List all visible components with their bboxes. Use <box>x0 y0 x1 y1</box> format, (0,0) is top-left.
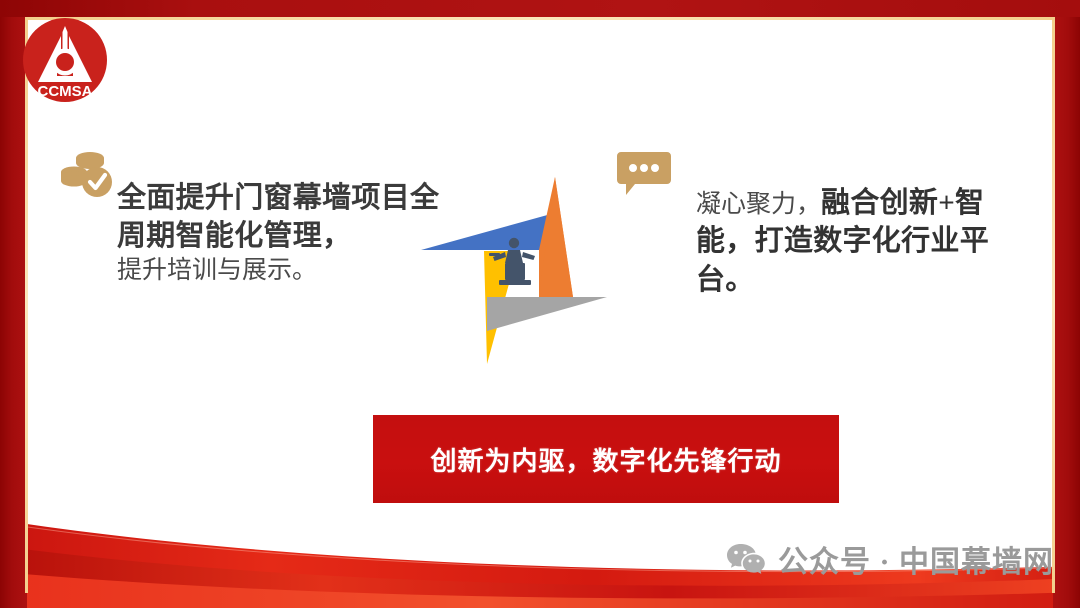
right-message-text: 凝心聚力，融合创新+智能，打造数字化行业平台。 <box>696 184 1026 299</box>
coins-check-icon <box>60 148 120 202</box>
left-message-text: 全面提升门窗幕墙项目全周期智能化管理， 提升培训与展示。 <box>117 180 447 288</box>
speech-bubble-icon <box>616 150 672 200</box>
pinwheel-podium-emblem <box>417 164 637 374</box>
left-subline: 提升培训与展示。 <box>117 257 317 284</box>
highlight-banner: 创新为内驱，数字化先锋行动 <box>373 415 839 503</box>
left-headline: 全面提升门窗幕墙项目全周期智能化管理， <box>117 182 439 252</box>
frame-border-top <box>0 0 1080 17</box>
wechat-icon <box>726 542 766 576</box>
footer-watermark: 公众号 · 中国幕墙网 <box>726 537 1054 581</box>
ccmsa-logo-text: CCMSA <box>38 83 93 100</box>
slide-root: CCMSA <box>0 0 1080 608</box>
frame-accent-top <box>25 17 1055 20</box>
frame-border-right <box>1053 0 1080 608</box>
highlight-banner-text: 创新为内驱，数字化先锋行动 <box>430 441 781 478</box>
frame-accent-right <box>1052 17 1055 593</box>
ccmsa-logo: CCMSA <box>21 16 109 108</box>
right-lead-text: 凝心聚力， <box>696 191 821 218</box>
footer-text: 公众号 · 中国幕墙网 <box>778 537 1054 581</box>
